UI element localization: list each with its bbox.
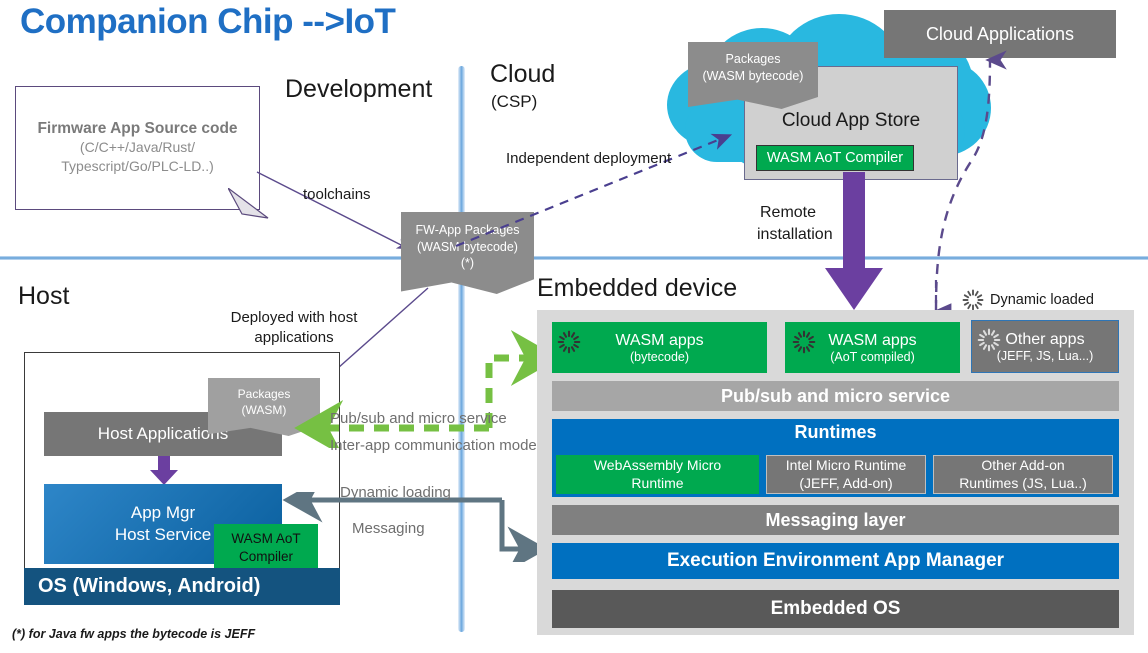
embedded-os-bar: Embedded OS xyxy=(552,590,1119,628)
interapp-label: Inter-app communication models xyxy=(330,437,548,454)
section-heading-host: Host xyxy=(18,282,69,311)
embedded-app-manager-bar: Execution Environment App Manager xyxy=(552,543,1119,579)
footnote: (*) for Java fw apps the bytecode is JEF… xyxy=(12,627,255,641)
cloud-wasm-aot-compiler: WASM AoT Compiler xyxy=(756,145,914,171)
cloud-packages-callout: Packages (WASM bytecode) xyxy=(688,42,818,109)
section-heading-cloud-sub: (CSP) xyxy=(491,92,537,112)
embedded-messaging-layer-bar: Messaging layer xyxy=(552,505,1119,535)
dynamic-loaded-spinner-icon xyxy=(961,288,985,312)
pubsub-green-arrows xyxy=(282,330,566,448)
runtime0-line2: Runtime xyxy=(631,475,683,493)
embedded-messaging-label: Messaging layer xyxy=(765,510,905,531)
app-mgr-line1: App Mgr xyxy=(131,502,195,524)
app1-name: WASM apps xyxy=(828,332,916,350)
fw-packages-line3: (*) xyxy=(401,255,534,272)
runtime0-line1: WebAssembly Micro xyxy=(594,457,721,475)
remote-install-line2: installation xyxy=(757,224,819,246)
source-box-line1: (C/C++/Java/Rust/ xyxy=(80,138,195,157)
host-os-bar: OS (Windows, Android) xyxy=(24,568,340,605)
messaging-label: Messaging xyxy=(352,520,425,537)
embedded-os-label: Embedded OS xyxy=(771,598,901,620)
toolchains-arrow xyxy=(255,170,420,256)
pubsub-label: Pub/sub and micro service xyxy=(330,410,507,427)
runtime1-line2: (JEFF, Add-on) xyxy=(799,475,892,493)
spinner-icon-app2 xyxy=(976,327,1002,353)
runtime-other-addon: Other Add-on Runtimes (JS, Lua..) xyxy=(933,455,1113,494)
remote-installation-label: Remote installation xyxy=(757,202,819,245)
source-box-title: Firmware App Source code xyxy=(37,120,237,138)
cloud-compiler-label: WASM AoT Compiler xyxy=(767,150,903,166)
dynamic-loaded-legend-label: Dynamic loaded xyxy=(990,292,1094,308)
cloud-packages-line2: (WASM bytecode) xyxy=(688,68,818,85)
section-heading-development: Development xyxy=(285,75,432,104)
embedded-app-wasm-bytecode: WASM apps (bytecode) xyxy=(552,322,767,373)
source-box-line2: Typescript/Go/PLC-LD..) xyxy=(61,157,214,176)
runtime-intel-micro: Intel Micro Runtime (JEFF, Add-on) xyxy=(766,455,926,494)
app1-sub: (AoT compiled) xyxy=(830,350,915,364)
dynamic-loaded-curved-arrow xyxy=(920,48,1010,316)
runtime2-line2: Runtimes (JS, Lua..) xyxy=(959,475,1087,493)
spinner-icon-app1 xyxy=(791,329,817,355)
section-heading-cloud: Cloud xyxy=(490,60,555,89)
dynamic-loading-label: Dynamic loading xyxy=(340,484,451,501)
independent-deployment-label: Independent deployment xyxy=(506,150,671,167)
host-os-label: OS (Windows, Android) xyxy=(38,575,260,598)
app0-sub: (bytecode) xyxy=(630,350,689,364)
host-internal-arrow xyxy=(148,456,180,486)
runtime-webassembly-micro: WebAssembly Micro Runtime xyxy=(556,455,759,494)
runtime2-line1: Other Add-on xyxy=(981,457,1064,475)
runtime1-line1: Intel Micro Runtime xyxy=(786,457,907,475)
embedded-runtimes-title: Runtimes xyxy=(552,422,1119,443)
app2-sub: (JEFF, JS, Lua...) xyxy=(997,349,1094,363)
embedded-app-manager-label: Execution Environment App Manager xyxy=(667,550,1004,572)
embedded-pubsub-bar: Pub/sub and micro service xyxy=(552,381,1119,411)
app0-name: WASM apps xyxy=(615,332,703,350)
firmware-source-code-box: Firmware App Source code (C/C++/Java/Rus… xyxy=(15,86,260,210)
section-heading-embedded: Embedded device xyxy=(537,274,737,303)
independent-deployment-arrow xyxy=(452,128,742,252)
cloud-applications-label: Cloud Applications xyxy=(926,24,1074,45)
app2-name: Other apps xyxy=(1005,331,1084,349)
toolchains-label: toolchains xyxy=(303,186,371,203)
spinner-icon-app0 xyxy=(556,329,582,355)
page-title: Companion Chip -->IoT xyxy=(20,2,395,42)
app-mgr-line2: Host Service xyxy=(115,524,211,546)
cloud-packages-line1: Packages xyxy=(688,51,818,68)
remote-install-line1: Remote xyxy=(757,202,819,224)
embedded-pubsub-label: Pub/sub and micro service xyxy=(721,386,950,407)
